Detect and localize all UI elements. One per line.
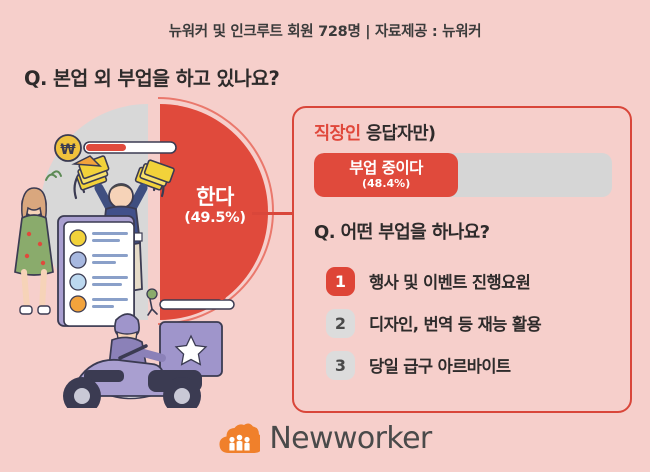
rank-badge: 2	[326, 309, 355, 338]
rank-item: 3당일 급구 아르바이트	[326, 344, 616, 386]
rank-label: 디자인, 번역 등 재능 활용	[369, 311, 541, 335]
rank-item: 1행사 및 이벤트 진행요원	[326, 260, 616, 302]
rank-badge: 3	[326, 351, 355, 380]
infographic-canvas: 뉴워커 및 인크루트 회원 728명 | 자료제공 : 뉴워커 Q. 본업 외 …	[0, 0, 650, 472]
main-question: Q. 본업 외 부업을 하고 있나요?	[24, 62, 279, 91]
pie-to-panel-connector	[252, 212, 294, 215]
panel-heading: 직장인 응답자만)	[314, 120, 435, 145]
bar-value: (48.4%)	[362, 177, 410, 190]
delivery-scooter-icon	[63, 314, 222, 408]
panel-heading-highlight: 직장인	[314, 124, 361, 144]
sub-question: Q. 어떤 부업을 하나요?	[314, 218, 489, 244]
rank-item: 2디자인, 번역 등 재능 활용	[326, 302, 616, 344]
cloud-people-icon	[218, 422, 260, 456]
rank-badge: 1	[326, 267, 355, 296]
rank-label: 행사 및 이벤트 진행요원	[369, 269, 530, 293]
brand-name: Newworker	[269, 421, 431, 456]
panel-heading-rest: 응답자만)	[361, 124, 436, 144]
brand-logo: Newworker	[0, 421, 650, 456]
bar-chart-fill: 부업 중이다 (48.4%)	[314, 153, 458, 197]
bar-chart-track: 부업 중이다 (48.4%)	[314, 153, 612, 197]
pie-chart: 한다 (49.5%)	[24, 100, 284, 322]
results-panel: 직장인 응답자만) 부업 중이다 (48.4%) Q. 어떤 부업을 하나요? …	[292, 106, 632, 413]
rank-label: 당일 급구 아르바이트	[369, 353, 511, 377]
ranking-list: 1행사 및 이벤트 진행요원2디자인, 번역 등 재능 활용3당일 급구 아르바…	[326, 260, 616, 386]
bar-label: 부업 중이다	[349, 160, 423, 176]
source-line: 뉴워커 및 인크루트 회원 728명 | 자료제공 : 뉴워커	[0, 20, 650, 41]
